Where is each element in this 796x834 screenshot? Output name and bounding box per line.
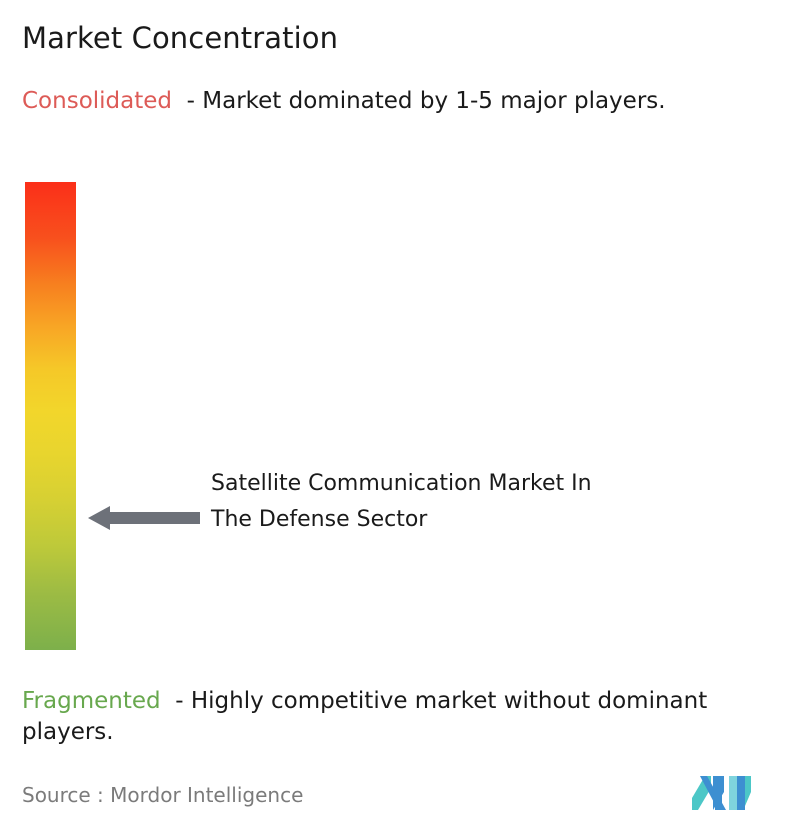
legend-fragmented-term: Fragmented [22, 688, 161, 714]
market-label: Satellite Communication Market In The De… [211, 466, 631, 538]
legend-consolidated: Consolidated - Market dominated by 1-5 m… [22, 86, 770, 117]
page-title: Market Concentration [22, 20, 338, 56]
legend-consolidated-term: Consolidated [22, 88, 172, 114]
market-concentration-chart: Market Concentration Consolidated - Mark… [0, 0, 796, 834]
arrow-left-icon [88, 506, 200, 530]
mordor-intelligence-logo [691, 772, 757, 814]
legend-fragmented: Fragmented - Highly competitive market w… [22, 686, 782, 748]
concentration-scale [25, 182, 76, 650]
legend-consolidated-description: - Market dominated by 1-5 major players. [187, 88, 666, 114]
source-label: Source : Mordor Intelligence [22, 782, 303, 808]
gradient-scale-bar [25, 182, 76, 650]
